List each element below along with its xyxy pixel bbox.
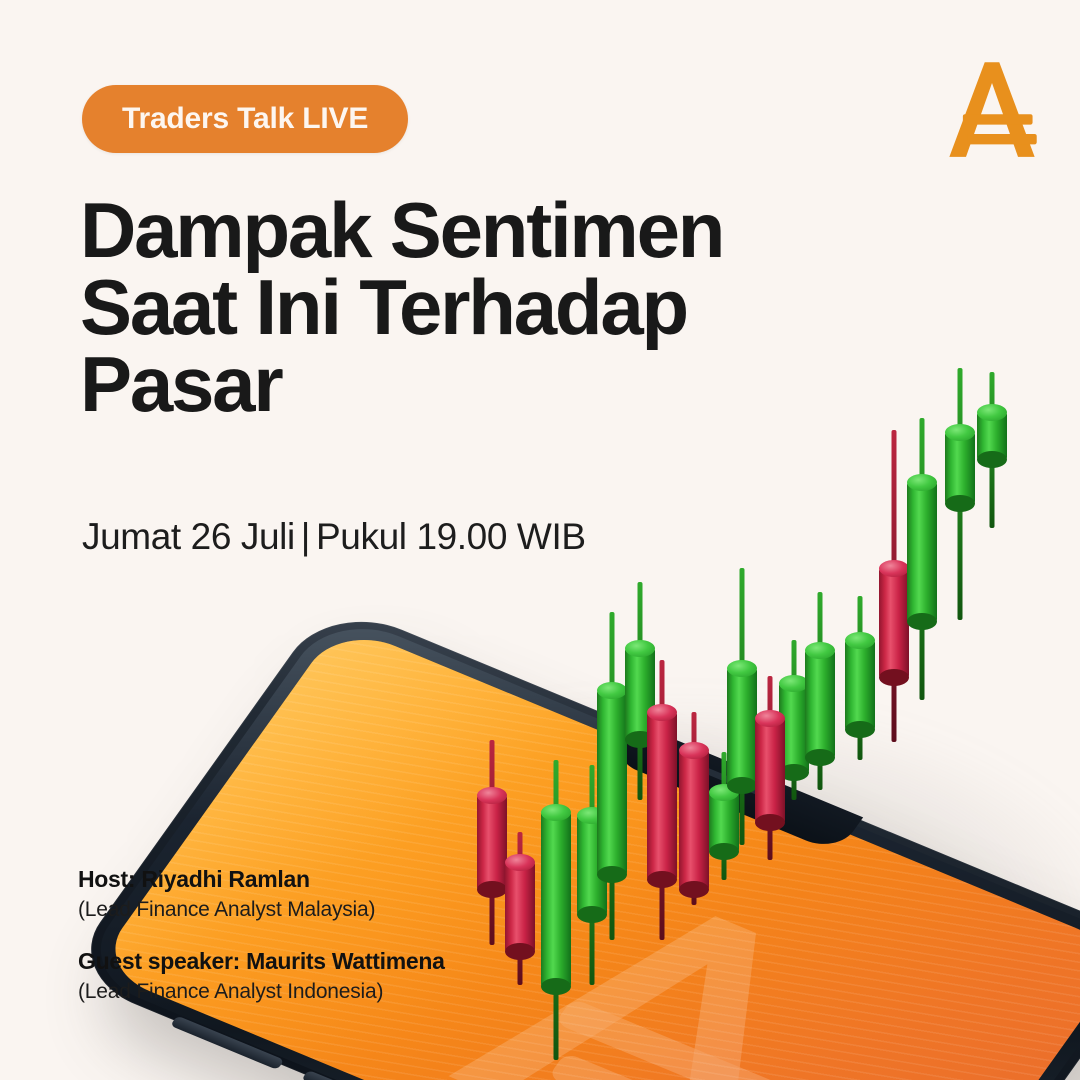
- candle-body: [977, 412, 1007, 460]
- candle-body: [727, 668, 757, 786]
- candle-body-top: [755, 710, 785, 727]
- guest-name: Guest speaker: Maurits Wattimena: [78, 948, 445, 975]
- candlestick-bullish: [541, 760, 571, 1060]
- candle-body: [805, 650, 835, 758]
- candle-body-top: [647, 704, 677, 721]
- candle-body: [679, 750, 709, 890]
- candlestick-bearish: [505, 832, 535, 985]
- host-name: Host: Riyadhi Ramlan: [78, 866, 445, 893]
- candlestick-bullish: [907, 418, 937, 700]
- live-badge[interactable]: Traders Talk LIVE: [82, 85, 408, 153]
- candle-body-base: [755, 814, 785, 831]
- candlestick-bullish: [845, 596, 875, 760]
- candle-body-base: [709, 843, 739, 860]
- promo-poster: Traders Talk LIVE Dampak Sentimen Saat I…: [0, 0, 1080, 1080]
- schedule-separator: |: [295, 516, 316, 557]
- candlestick-bearish: [477, 740, 507, 945]
- candlestick-bearish: [679, 712, 709, 905]
- candle-body-base: [805, 749, 835, 766]
- candle-body-base: [945, 495, 975, 512]
- title-line-3: Pasar: [80, 346, 820, 423]
- candle-body-base: [879, 669, 909, 686]
- candlestick-bearish: [755, 676, 785, 860]
- candlestick-bullish: [977, 372, 1007, 528]
- candle-body-top: [477, 787, 507, 804]
- candle-body-top: [977, 404, 1007, 421]
- page-title: Dampak Sentimen Saat Ini Terhadap Pasar: [80, 192, 820, 424]
- live-badge-label: Traders Talk LIVE: [122, 102, 368, 136]
- candle-body-base: [505, 943, 535, 960]
- title-line-2: Saat Ini Terhadap: [80, 269, 820, 346]
- candle-body: [597, 690, 627, 875]
- candle-body-top: [879, 560, 909, 577]
- candle-body-top: [541, 804, 571, 821]
- schedule-time: Pukul 19.00 WIB: [316, 516, 586, 557]
- candlestick-bullish: [945, 368, 975, 620]
- candle-body-top: [505, 854, 535, 871]
- candle-body: [945, 432, 975, 504]
- schedule-date: Jumat 26 Juli: [82, 516, 295, 557]
- candle-body-top: [625, 640, 655, 657]
- candle-body: [505, 862, 535, 952]
- candle-body: [541, 812, 571, 987]
- candle-body-top: [727, 660, 757, 677]
- candle-body-base: [907, 613, 937, 630]
- candle-body-top: [805, 642, 835, 659]
- candlestick-bearish: [879, 430, 909, 742]
- candle-body-top: [597, 682, 627, 699]
- candle-body: [907, 482, 937, 622]
- guest-credit: Guest speaker: Maurits Wattimena (Lead F…: [78, 948, 445, 1004]
- candle-body-base: [477, 881, 507, 898]
- schedule-line: Jumat 26 Juli|Pukul 19.00 WIB: [82, 516, 586, 558]
- candle-body-top: [945, 424, 975, 441]
- host-credit: Host: Riyadhi Ramlan (Lead Finance Analy…: [78, 866, 445, 922]
- candle-body: [755, 718, 785, 823]
- candlestick-bullish: [727, 568, 757, 845]
- candle-body-base: [977, 451, 1007, 468]
- candle-body-top: [845, 632, 875, 649]
- candle-body-base: [845, 721, 875, 738]
- candle-body-top: [679, 742, 709, 759]
- candle-body: [845, 640, 875, 730]
- candle-body-base: [679, 881, 709, 898]
- candle-body: [879, 568, 909, 678]
- candlestick-bullish: [805, 592, 835, 790]
- candle-body-top: [907, 474, 937, 491]
- candlestick-bearish: [647, 660, 677, 940]
- host-role: (Lead Finance Analyst Malaysia): [78, 898, 445, 922]
- guest-role: (Lead Finance Analyst Indonesia): [78, 980, 445, 1004]
- candle-body: [647, 712, 677, 880]
- candle-body-base: [541, 978, 571, 995]
- credits-block: Host: Riyadhi Ramlan (Lead Finance Analy…: [78, 866, 445, 1004]
- candle-body-base: [597, 866, 627, 883]
- brand-a-logo-icon: [940, 58, 1044, 160]
- candle-body-base: [647, 871, 677, 888]
- title-line-1: Dampak Sentimen: [80, 192, 820, 269]
- candle-body-base: [727, 777, 757, 794]
- candlestick-bullish: [597, 612, 627, 940]
- candle-body: [477, 795, 507, 890]
